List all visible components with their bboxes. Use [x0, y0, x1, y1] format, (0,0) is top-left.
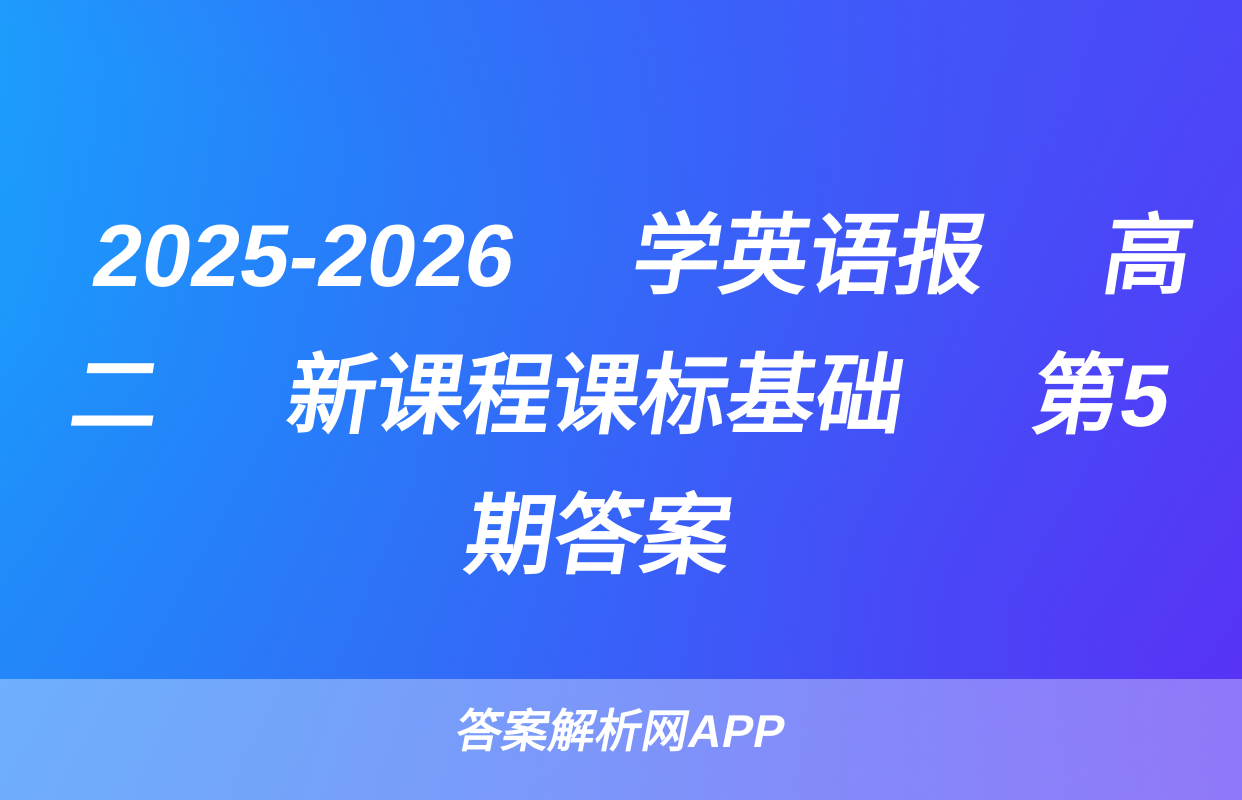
- title-token-issue-prefix: 第5: [1022, 326, 1181, 466]
- title-token-year-range: 2025-2026: [83, 186, 526, 326]
- title-token-publication: 学英语报: [622, 186, 996, 326]
- app-watermark: 答案解析网APP: [0, 702, 1242, 760]
- page-title: 2025-2026 学英语报 高 二 新课程课标基础 第5 期答案: [39, 186, 1204, 606]
- title-line-2: 二 新课程课标基础 第5: [61, 326, 1181, 466]
- title-line-1: 2025-2026 学英语报 高: [83, 186, 1203, 326]
- title-token-issue-suffix: 期答案: [456, 466, 742, 606]
- title-token-curriculum: 新课程课标基础: [277, 326, 915, 466]
- title-line-3: 期答案: [39, 466, 1159, 606]
- poster-canvas: 2025-2026 学英语报 高 二 新课程课标基础 第5 期答案 答案解析网A…: [0, 0, 1242, 800]
